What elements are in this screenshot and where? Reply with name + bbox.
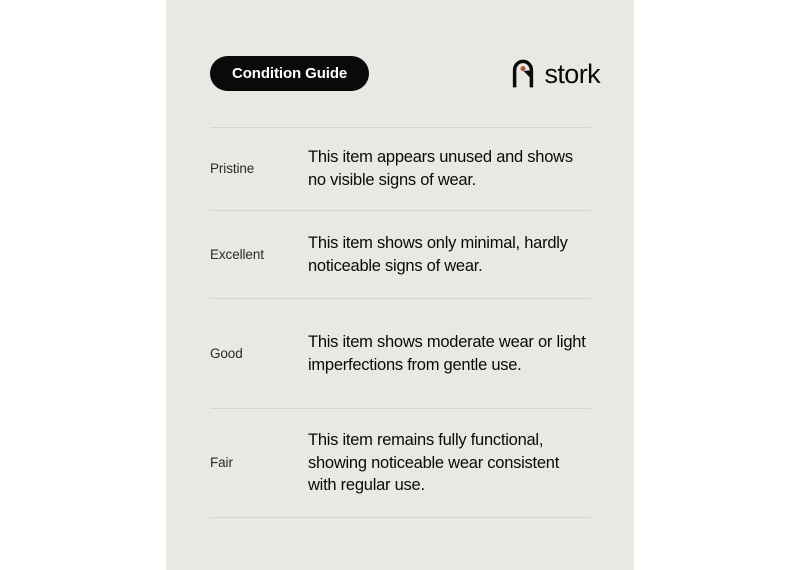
table-row: Pristine This item appears unused and sh… (210, 128, 591, 210)
table-row: Excellent This item shows only minimal, … (210, 211, 591, 298)
condition-description: This item shows moderate wear or light i… (308, 331, 591, 377)
table-row: Fair This item remains fully functional,… (210, 409, 591, 517)
brand-wordmark: stork (544, 61, 600, 88)
row-divider (210, 517, 591, 518)
condition-table: Pristine This item appears unused and sh… (210, 127, 591, 518)
stork-arch-logo-icon (511, 58, 535, 88)
table-row: Good This item shows moderate wear or li… (210, 299, 591, 408)
condition-label: Excellent (210, 246, 308, 264)
condition-guide-badge: Condition Guide (210, 56, 369, 91)
condition-description: This item appears unused and shows no vi… (308, 146, 591, 192)
condition-label: Pristine (210, 160, 308, 178)
condition-description: This item shows only minimal, hardly not… (308, 232, 591, 278)
condition-label: Good (210, 345, 308, 363)
condition-label: Fair (210, 454, 308, 472)
card-header: Condition Guide stork (166, 56, 634, 92)
condition-guide-card: Condition Guide stork Pristine This item… (166, 0, 634, 570)
condition-description: This item remains fully functional, show… (308, 429, 591, 497)
brand-lockup: stork (511, 55, 600, 91)
